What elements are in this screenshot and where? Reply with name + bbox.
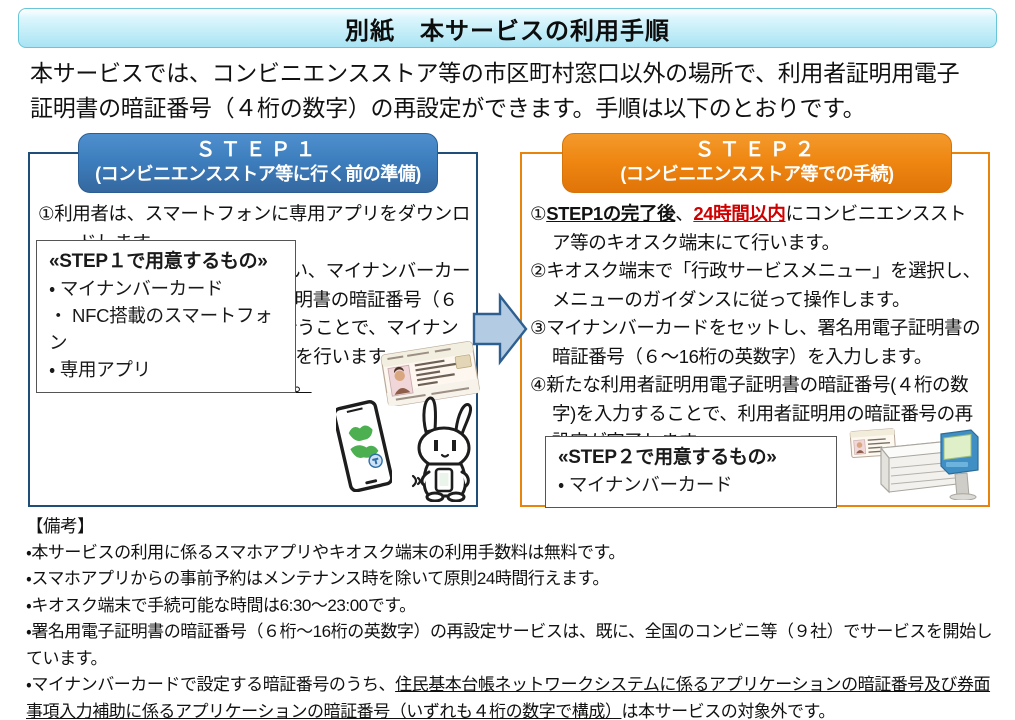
step2-title: ＳＴＥＰ２ xyxy=(573,138,941,162)
step1-prepare-box: «STEP１で用意するもの» ・ マイナンバーカード ・ NFC搭載のスマートフ… xyxy=(36,240,296,393)
step1-subtitle: (コンビニエンスストア等に行く前の準備) xyxy=(89,162,427,186)
step1-prepare-item-3: ・ 専用アプリ xyxy=(49,356,283,383)
step1-prepare-item-2: ・ NFC搭載のスマートフォン xyxy=(49,302,283,356)
step2-item-3: ③マイナンバーカードをセットし、署名用電子証明書の暗証番号（６～16桁の英数字）… xyxy=(530,314,984,371)
note-item-2: ・スマホアプリからの事前予約はメンテナンス時を除いて原則24時間行えます。 xyxy=(26,566,1001,593)
step1-title: ＳＴＥＰ１ xyxy=(89,138,427,162)
step2-item-1-red: 24時間以内 xyxy=(693,203,785,224)
notes-heading: 【備考】 xyxy=(26,513,1001,540)
intro-line-2: 証明書の暗証番号（４桁の数字）の再設定ができます。手順は以下のとおりです。 xyxy=(30,91,990,126)
step2-item-2: ②キオスク端末で「行政サービスメニュー」を選択し、メニューのガイダンスに従って操… xyxy=(530,257,984,314)
note-item-5: ・マイナンバーカードで設定する暗証番号のうち、住民基本台帳ネットワークシステムに… xyxy=(26,672,1001,720)
page-title-banner: 別紙 本サービスの利用手順 xyxy=(18,8,997,48)
step1-prepare-item-1: ・ マイナンバーカード xyxy=(49,275,283,302)
step2-item-2-marker: ② xyxy=(530,260,546,281)
intro-paragraph: 本サービスでは、コンビニエンスストア等の市区町村窓口以外の場所で、利用者証明用電… xyxy=(30,56,990,126)
note-item-1: ・本サービスの利用に係るスマホアプリやキオスク端末の利用手数料は無料です。 xyxy=(26,540,1001,567)
step1-prepare-heading: «STEP１で用意するもの» xyxy=(49,248,283,275)
step2-prepare-item-1: ・ マイナンバーカード xyxy=(558,471,824,498)
step1-item-1-marker: ① xyxy=(38,203,54,224)
step2-item-1: ①STEP1の完了後、24時間以内にコンビニエンスストア等のキオスク端末にて行い… xyxy=(530,200,984,257)
note-item-5-suffix: は本サービスの対象外です。 xyxy=(621,702,834,720)
step2-item-1-marker: ① xyxy=(530,203,546,224)
step2-item-4-marker: ④ xyxy=(530,374,546,395)
note-item-5-prefix: ・マイナンバーカードで設定する暗証番号のうち、 xyxy=(26,675,395,694)
step2-item-3-text: マイナンバーカードをセットし、署名用電子証明書の暗証番号（６～16桁の英数字）を… xyxy=(546,317,980,367)
document-page: 別紙 本サービスの利用手順 本サービスでは、コンビニエンスストア等の市区町村窓口… xyxy=(0,0,1015,720)
step2-header: ＳＴＥＰ２ (コンビニエンスストア等での手続) xyxy=(562,133,952,193)
step2-item-3-marker: ③ xyxy=(530,317,546,338)
step2-prepare-heading: «STEP２で用意するもの» xyxy=(558,444,824,471)
step2-item-1-mid: 、 xyxy=(675,203,693,224)
step2-item-2-text: キオスク端末で「行政サービスメニュー」を選択し、メニューのガイダンスに従って操作… xyxy=(546,260,980,310)
step2-prepare-box: «STEP２で用意するもの» ・ マイナンバーカード xyxy=(545,436,837,508)
note-item-3: ・キオスク端末で手続可能な時間は6:30～23:00です。 xyxy=(26,593,1001,620)
page-title: 別紙 本サービスの利用手順 xyxy=(345,11,670,46)
mascot-rabbit-icon xyxy=(396,392,494,502)
kiosk-terminal-icon xyxy=(845,418,985,500)
intro-line-1: 本サービスでは、コンビニエンスストア等の市区町村窓口以外の場所で、利用者証明用電… xyxy=(30,56,990,91)
smartphone-icon xyxy=(336,400,392,492)
flow-arrow-icon xyxy=(472,292,528,366)
note-item-4: ・署名用電子証明書の暗証番号（６桁～16桁の英数字）の再設定サービスは、既に、全… xyxy=(26,619,1001,672)
step2-item-1-bold: STEP1の完了後 xyxy=(546,203,675,224)
notes-section: 【備考】 ・本サービスの利用に係るスマホアプリやキオスク端末の利用手数料は無料で… xyxy=(26,513,1001,720)
step2-subtitle: (コンビニエンスストア等での手続) xyxy=(573,162,941,186)
step1-header: ＳＴＥＰ１ (コンビニエンスストア等に行く前の準備) xyxy=(78,133,438,193)
